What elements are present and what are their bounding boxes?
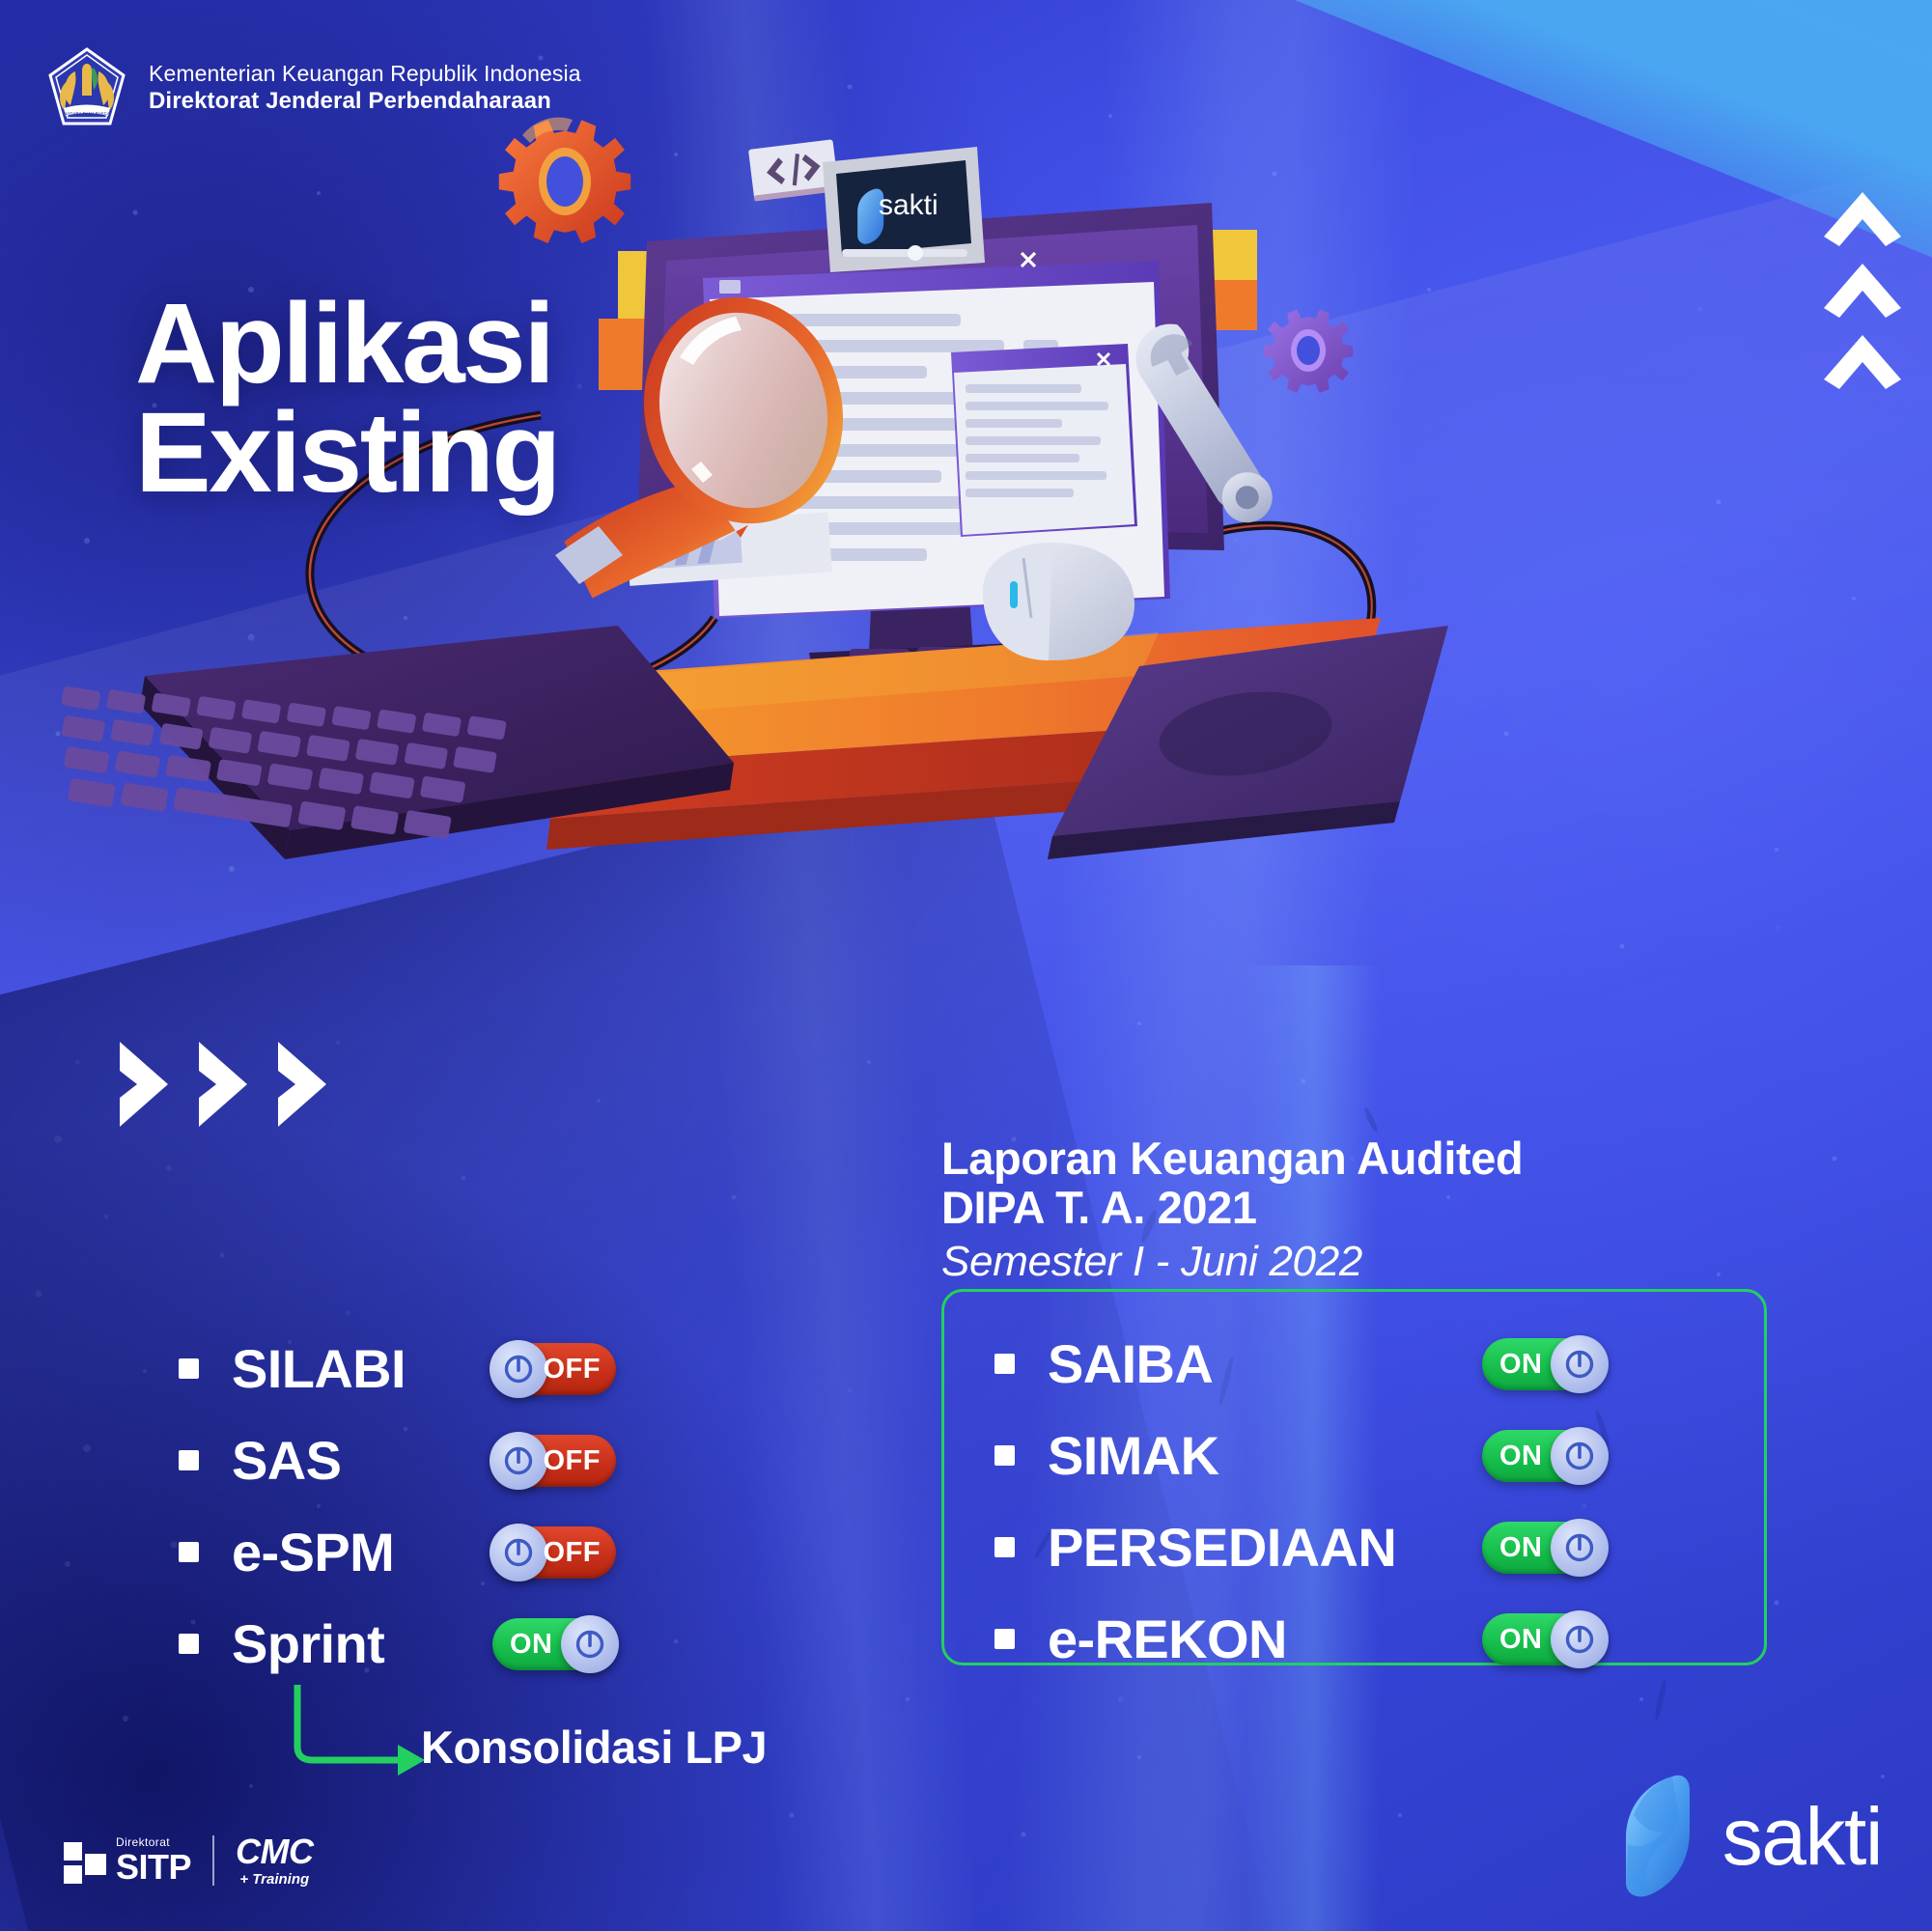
- sitp-squares-icon: [64, 1842, 106, 1885]
- report-line-1: Laporan Keuangan Audited: [941, 1134, 1523, 1184]
- sakti-device: sakti: [823, 147, 985, 272]
- toggle-knob: [1551, 1335, 1609, 1393]
- toggle-knob: [1551, 1519, 1609, 1577]
- toggle-state-label: OFF: [544, 1343, 602, 1395]
- list-item[interactable]: SAIBA ON: [994, 1318, 1767, 1410]
- toggle-state-label: OFF: [544, 1435, 602, 1487]
- toggle-switch[interactable]: ON: [492, 1618, 616, 1670]
- square-bullet-icon: [994, 1354, 1015, 1374]
- toggle-state-label: ON: [1499, 1613, 1543, 1665]
- square-bullet-icon: [994, 1445, 1015, 1466]
- toggle-state-label: ON: [510, 1618, 553, 1670]
- document-window-secondary: [951, 344, 1137, 537]
- sitp-logo: Direktorat SITP: [64, 1836, 191, 1885]
- toggle-switch[interactable]: ON: [1482, 1522, 1606, 1574]
- chevron-right-icon: [195, 1038, 251, 1131]
- toggle-switch[interactable]: ON: [1482, 1613, 1606, 1665]
- sakti-wordmark: sakti: [1722, 1796, 1882, 1877]
- chevron-up-icon: [1820, 260, 1905, 322]
- list-item[interactable]: e-REKON ON: [994, 1593, 1767, 1685]
- gear-purple-icon: [1264, 309, 1353, 393]
- toggle-knob: [561, 1615, 619, 1673]
- toggle-knob: [490, 1340, 547, 1398]
- app-name: PERSEDIAAN: [1048, 1516, 1482, 1579]
- report-heading: Laporan Keuangan Audited DIPA T. A. 2021…: [941, 1134, 1523, 1287]
- square-bullet-icon: [179, 1358, 199, 1379]
- poster-canvas: NAGARA DANA RAKCA Kementerian Keuangan R…: [0, 0, 1932, 1931]
- footer-divider: [212, 1835, 214, 1886]
- list-item[interactable]: Sprint ON: [179, 1598, 719, 1690]
- footer-logos: Direktorat SITP CMC + Training: [64, 1834, 314, 1887]
- mouse: [983, 543, 1134, 660]
- cmc-label: CMC: [236, 1834, 313, 1869]
- toggle-switch[interactable]: OFF: [492, 1435, 616, 1487]
- square-bullet-icon: [994, 1537, 1015, 1557]
- toggle-switch[interactable]: OFF: [492, 1526, 616, 1579]
- report-line-3: Semester I - Juni 2022: [941, 1237, 1523, 1288]
- power-icon: [502, 1353, 535, 1385]
- toggle-state-label: ON: [1499, 1522, 1543, 1574]
- chevron-up-icon: [1820, 188, 1905, 250]
- list-item[interactable]: e-SPM OFF: [179, 1506, 719, 1598]
- app-name: e-REKON: [1048, 1608, 1482, 1670]
- sakti-logo-icon: [1612, 1775, 1701, 1898]
- app-name: SAIBA: [1048, 1332, 1482, 1395]
- chevron-up-group: [1820, 188, 1905, 403]
- sakti-brand: sakti: [1612, 1775, 1882, 1898]
- workstation-illustration: sakti: [0, 0, 1932, 1062]
- square-bullet-icon: [179, 1542, 199, 1562]
- app-name: Sprint: [232, 1612, 492, 1675]
- power-icon: [1563, 1440, 1596, 1472]
- list-item[interactable]: PERSEDIAAN ON: [994, 1501, 1767, 1593]
- app-name: SILABI: [232, 1337, 492, 1400]
- list-item[interactable]: SAS OFF: [179, 1414, 719, 1506]
- report-line-2: DIPA T. A. 2021: [941, 1184, 1523, 1233]
- chevron-right-icon: [274, 1038, 330, 1131]
- cmc-logo: CMC + Training: [236, 1834, 313, 1887]
- sitp-label: SITP: [116, 1850, 191, 1885]
- power-icon: [574, 1628, 606, 1661]
- power-icon: [1563, 1348, 1596, 1381]
- kemenkeu-seal-icon: NAGARA DANA RAKCA: [46, 46, 127, 129]
- svg-text:NAGARA DANA RAKCA: NAGARA DANA RAKCA: [64, 111, 110, 116]
- gear-orange-icon: [499, 118, 630, 243]
- ministry-branding: NAGARA DANA RAKCA Kementerian Keuangan R…: [46, 46, 581, 129]
- directorate-name: Direktorat Jenderal Perbendaharaan: [149, 87, 581, 115]
- toggle-state-label: ON: [1499, 1430, 1543, 1482]
- app-name: e-SPM: [232, 1521, 492, 1583]
- square-bullet-icon: [179, 1634, 199, 1654]
- square-bullet-icon: [994, 1629, 1015, 1649]
- ministry-name: Kementerian Keuangan Republik Indonesia: [149, 60, 581, 87]
- active-app-list: SAIBA ON SIMAK ON: [994, 1318, 1767, 1685]
- chevron-right-group: [116, 1038, 330, 1131]
- toggle-knob: [1551, 1610, 1609, 1668]
- list-item[interactable]: SIMAK ON: [994, 1410, 1767, 1501]
- legacy-app-list: SILABI OFF SAS: [179, 1323, 719, 1690]
- page-title: Aplikasi Existing: [135, 290, 559, 509]
- cmc-sublabel: + Training: [236, 1872, 313, 1887]
- toggle-state-label: ON: [1499, 1338, 1543, 1390]
- app-name: SIMAK: [1048, 1424, 1482, 1487]
- toggle-switch[interactable]: OFF: [492, 1343, 616, 1395]
- power-icon: [502, 1444, 535, 1477]
- toggle-knob: [490, 1432, 547, 1490]
- toggle-knob: [1551, 1427, 1609, 1485]
- app-name: SAS: [232, 1429, 492, 1492]
- list-item[interactable]: SILABI OFF: [179, 1323, 719, 1414]
- page-title-line2: Existing: [135, 399, 559, 508]
- chevron-right-icon: [116, 1038, 172, 1131]
- square-bullet-icon: [179, 1450, 199, 1470]
- toggle-knob: [490, 1524, 547, 1581]
- toggle-state-label: OFF: [544, 1526, 602, 1579]
- power-icon: [502, 1536, 535, 1569]
- device-sakti-label: sakti: [879, 189, 938, 221]
- power-icon: [1563, 1623, 1596, 1656]
- konsolidasi-arrow-icon: [290, 1685, 434, 1801]
- chevron-up-icon: [1820, 331, 1905, 393]
- power-icon: [1563, 1531, 1596, 1564]
- konsolidasi-label: Konsolidasi LPJ: [421, 1721, 767, 1774]
- toggle-switch[interactable]: ON: [1482, 1430, 1606, 1482]
- toggle-switch[interactable]: ON: [1482, 1338, 1606, 1390]
- page-title-line1: Aplikasi: [135, 290, 559, 399]
